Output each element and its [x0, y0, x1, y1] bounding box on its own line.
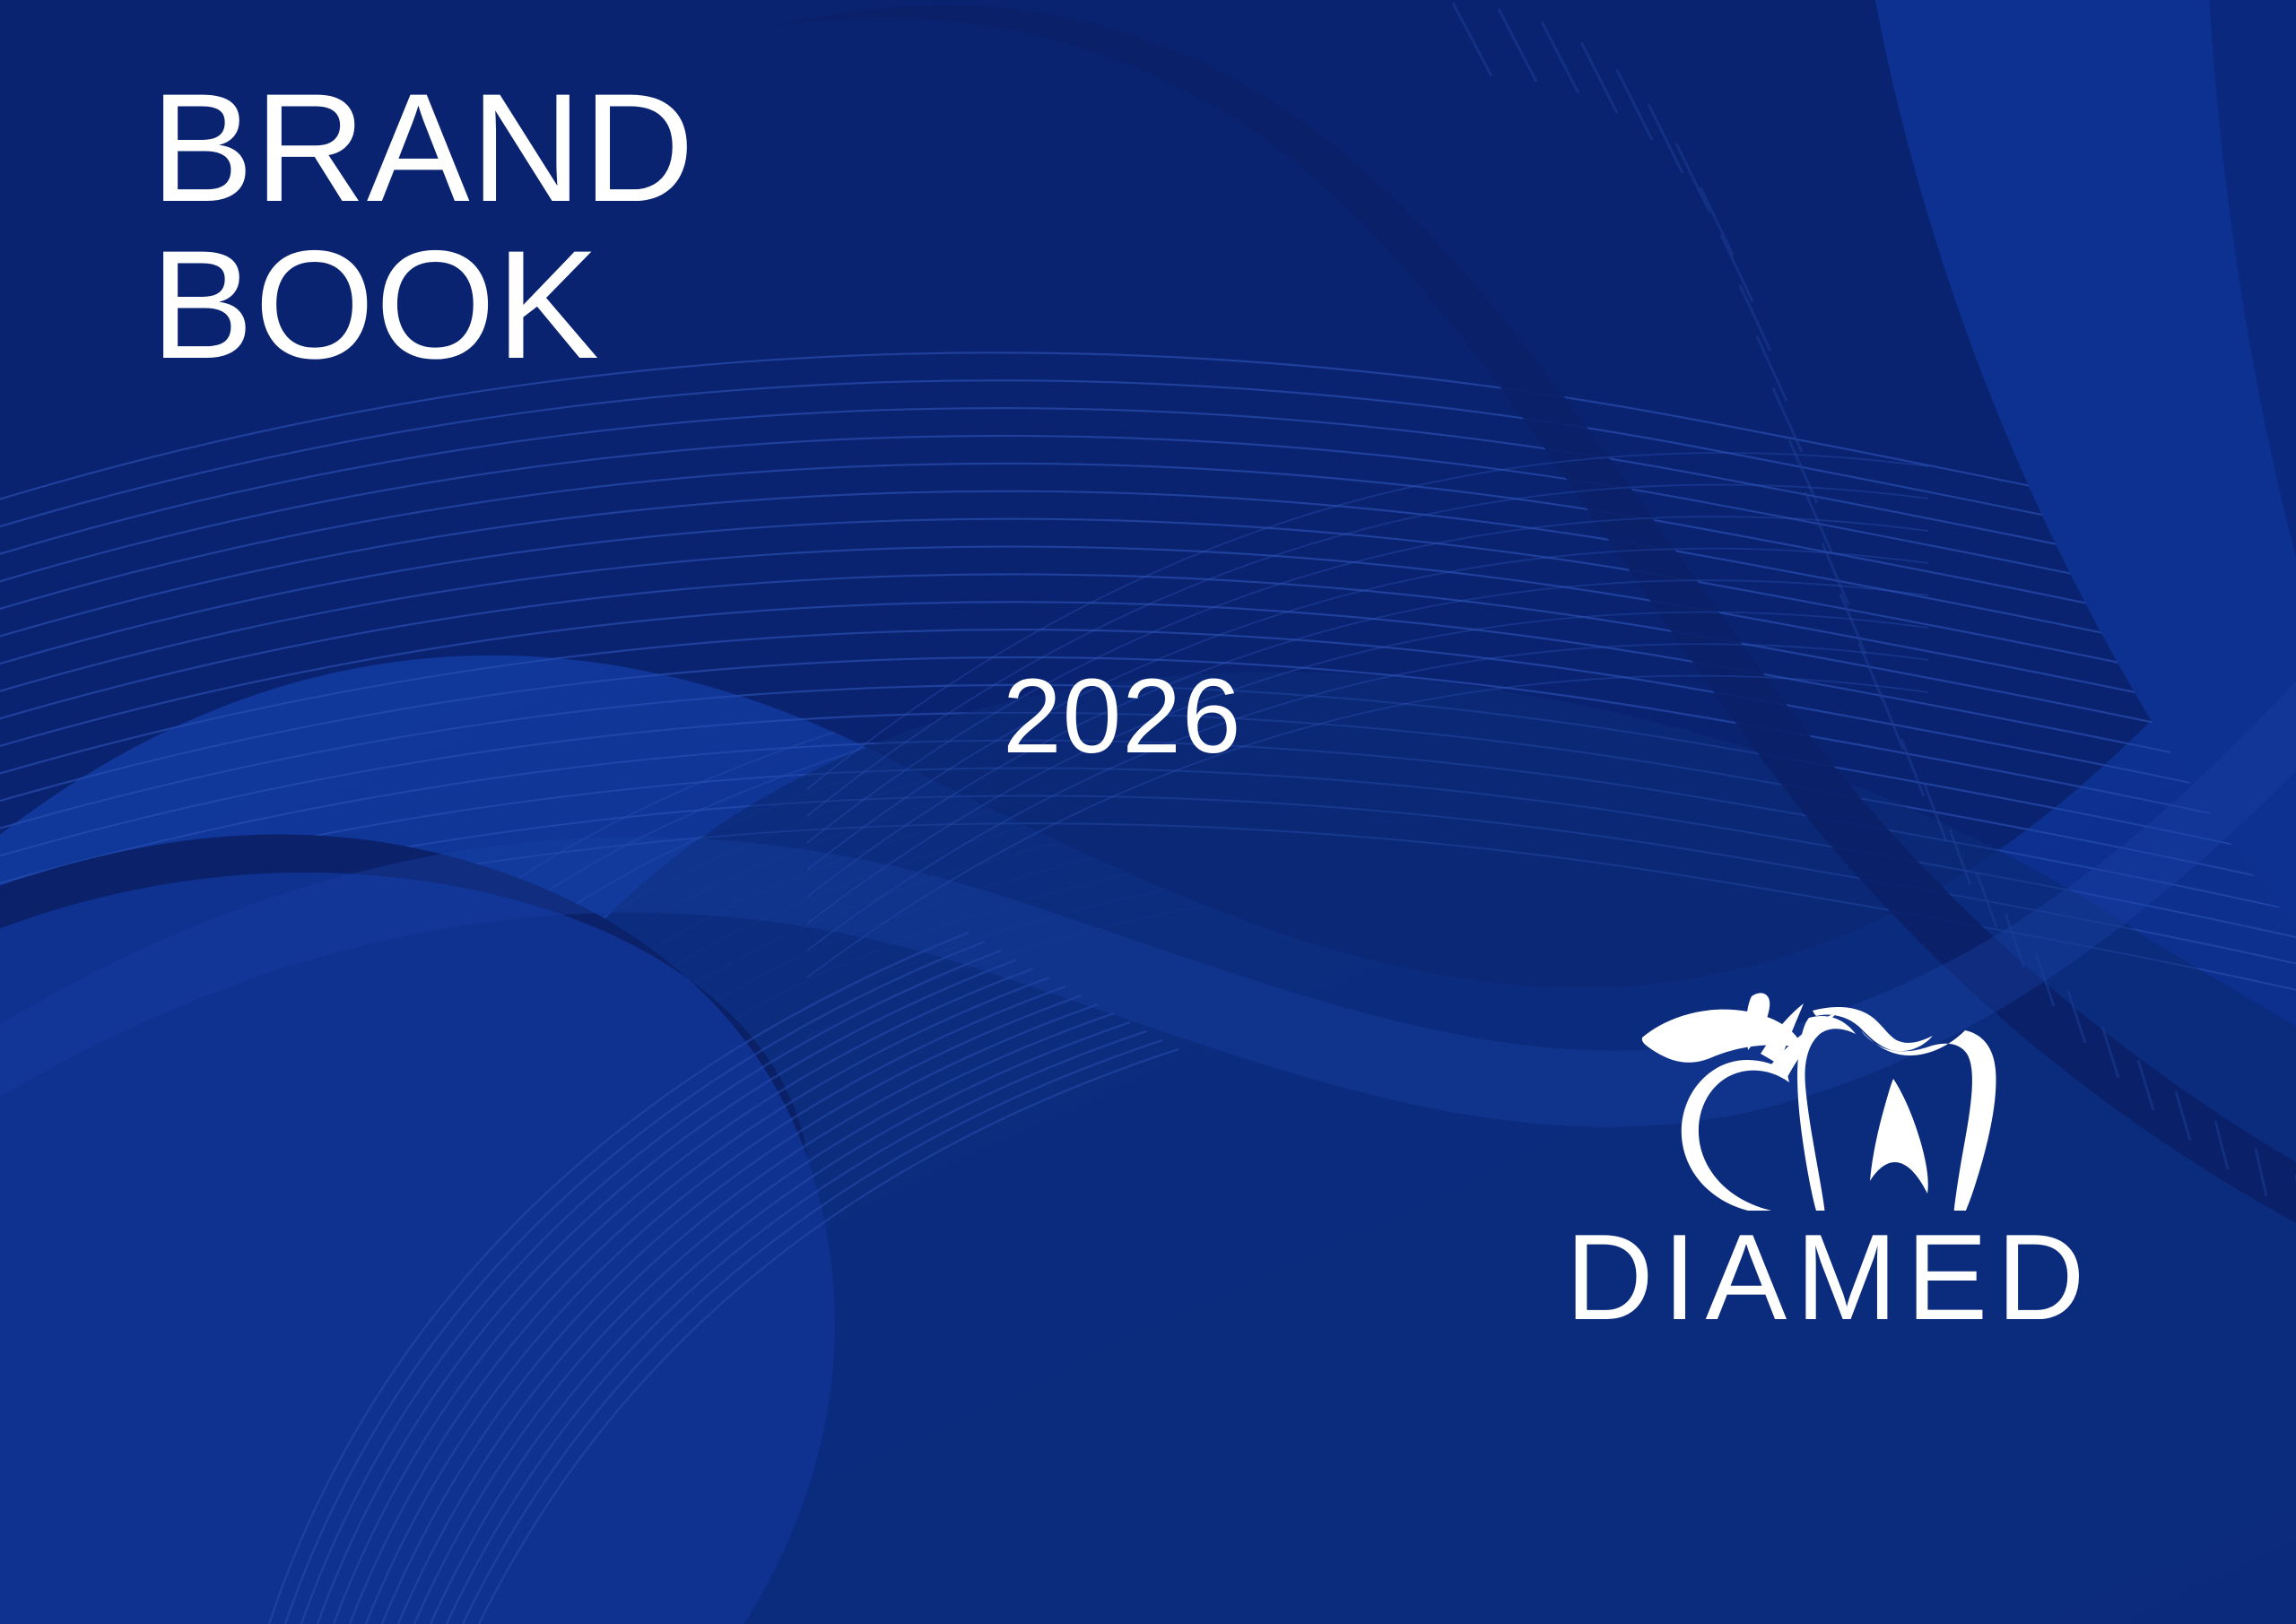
brand-logo-lockup: DIAMED — [1462, 964, 2188, 1338]
title-line-brand: BRAND — [151, 70, 695, 227]
apple-tooth-logo-icon — [1637, 964, 2013, 1211]
brand-wordmark: DIAMED — [1462, 1216, 2188, 1338]
title-line-book: BOOK — [151, 227, 695, 384]
year-label: 2026 — [1003, 664, 1242, 769]
brand-book-cover-page: BRAND BOOK 2026 — [0, 0, 2296, 1624]
page-title: BRAND BOOK — [151, 70, 695, 385]
